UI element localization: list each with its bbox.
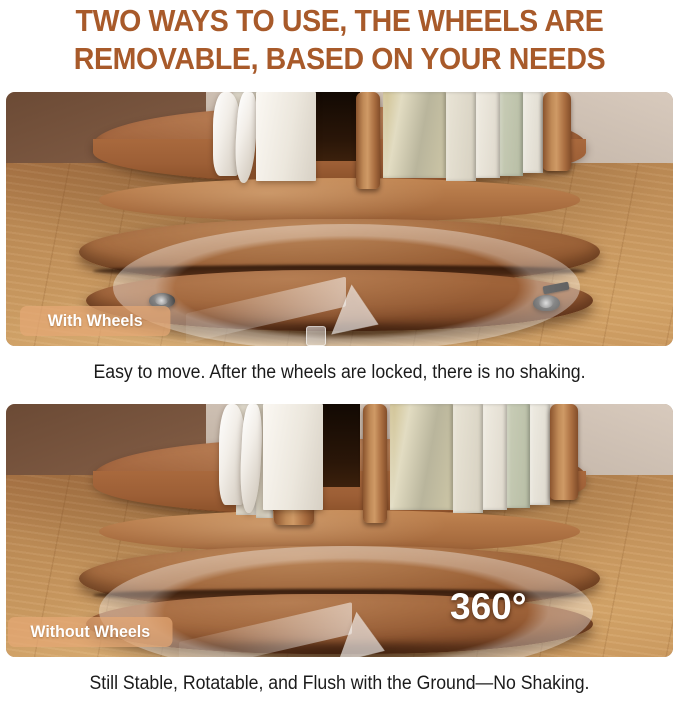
figurine-box: [263, 404, 323, 510]
shelf-shadow-gap: [313, 92, 360, 161]
book-spine: [453, 404, 483, 513]
badge-without-wheels: Without Wheels: [8, 617, 173, 647]
book-decorated: [383, 92, 446, 178]
caption-with-wheels: Easy to move. After the wheels are locke…: [24, 362, 655, 384]
shelf-post-right: [543, 92, 571, 171]
book-spine: [523, 92, 543, 173]
caption-without-wheels: Still Stable, Rotatable, and Flush with …: [24, 673, 655, 695]
figurine-box: [256, 92, 316, 181]
shelf-deck-surface: [99, 178, 579, 221]
shelf-post-center: [363, 404, 387, 523]
badge-with-wheels: With Wheels: [20, 306, 170, 336]
headline-line-2: REMOVABLE, BASED ON YOUR NEEDS: [27, 40, 652, 78]
book-spine: [507, 404, 530, 508]
product-feature-image: TWO WAYS TO USE, THE WHEELS ARE REMOVABL…: [0, 0, 679, 706]
shelf-post-right: [550, 404, 578, 500]
book-spine: [446, 92, 476, 181]
rotation-degree-label: 360°: [445, 342, 522, 346]
headline-line-1: TWO WAYS TO USE, THE WHEELS ARE: [27, 2, 652, 40]
book-decorated: [390, 404, 453, 510]
book-spine: [483, 404, 507, 510]
book-spine: [476, 92, 500, 178]
caster-wheel-right: [533, 295, 560, 311]
rotation-degree-label: 360°: [450, 586, 527, 628]
book-spine: [530, 404, 550, 505]
photo-panel-with-wheels: 360° With Wheels: [6, 92, 673, 346]
photo-panel-without-wheels: 360° Without Wheels: [6, 404, 673, 657]
book-spine: [500, 92, 523, 176]
caster-wheel-center: [306, 326, 326, 346]
shelf-post-center: [356, 92, 380, 189]
page-title: TWO WAYS TO USE, THE WHEELS ARE REMOVABL…: [27, 2, 652, 78]
